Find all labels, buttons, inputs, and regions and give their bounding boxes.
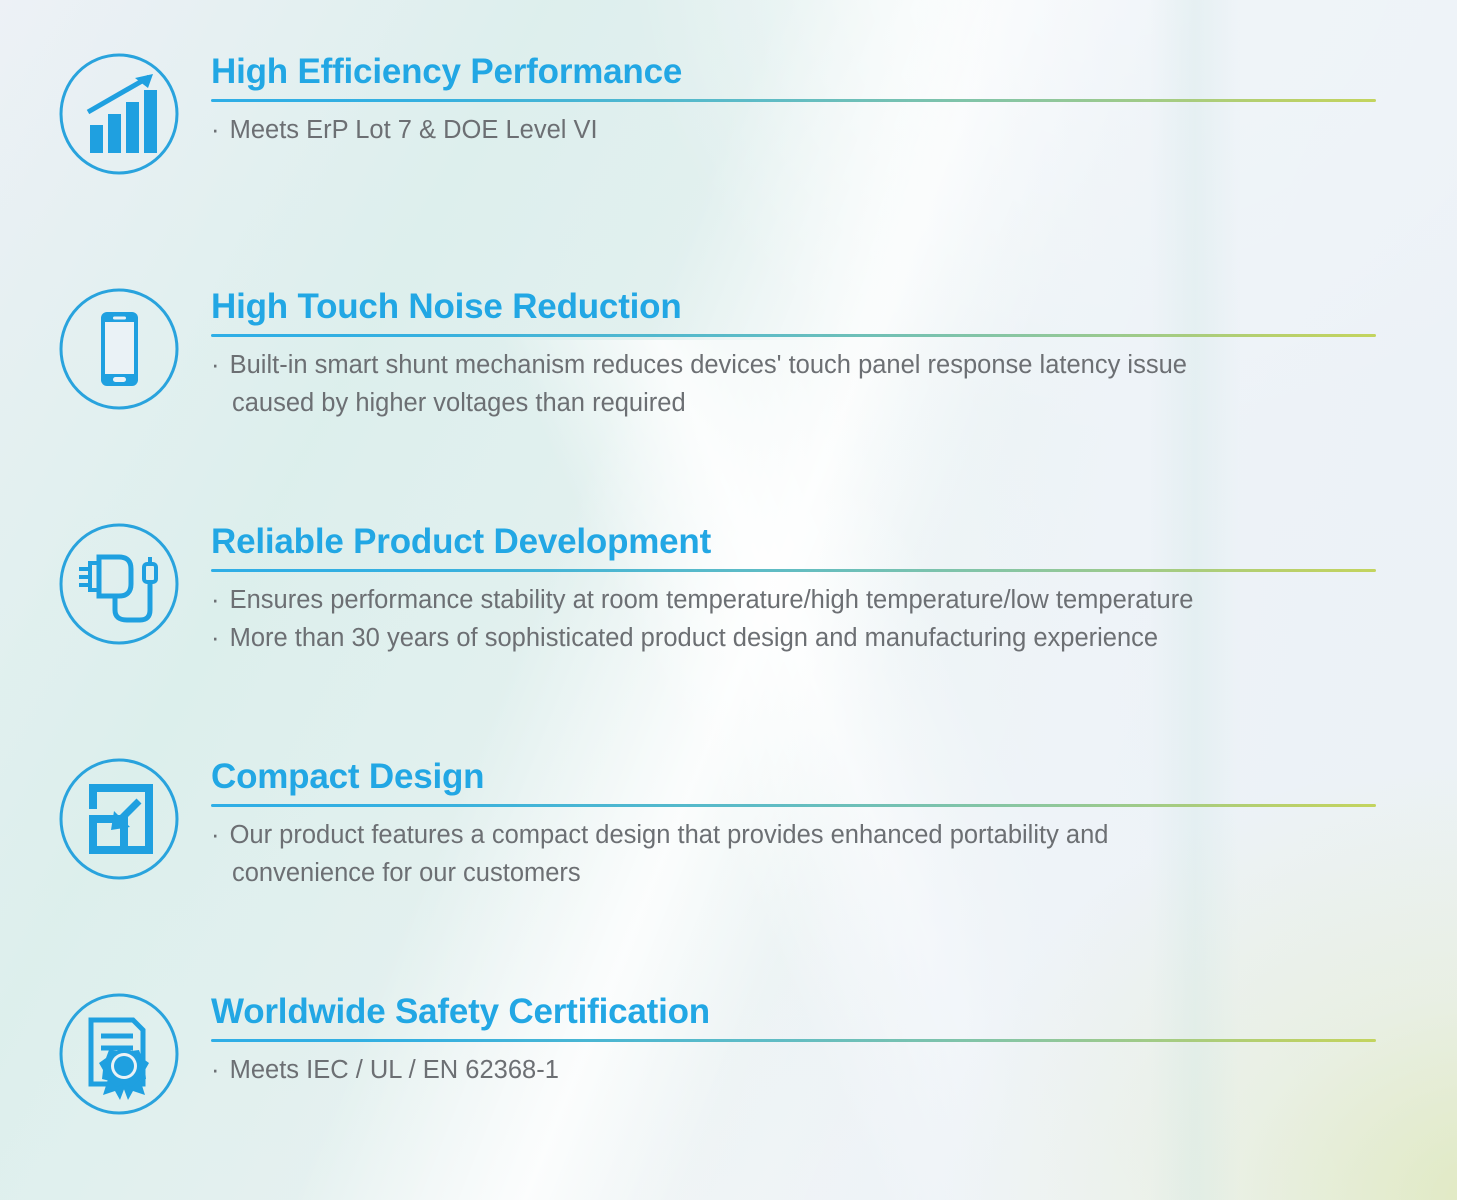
description-line: · Meets ErP Lot 7 & DOE Level VI [211,111,1376,149]
feature-body: Reliable Product Development · Ensures p… [211,522,1376,657]
description-line: caused by higher voltages than required [211,384,1376,422]
shrink-square-icon [57,757,181,881]
description-text: Ensures performance stability at room te… [230,586,1194,614]
feature-description: · Our product features a compact design … [211,807,1376,892]
bullet: · [211,624,223,652]
feature-title: Reliable Product Development [211,522,1376,562]
description-text: convenience for our customers [232,859,581,887]
feature-body: Worldwide Safety Certification · Meets I… [211,992,1376,1089]
description-text: Our product features a compact design th… [230,821,1109,849]
bullet: · [211,821,223,849]
description-text: More than 30 years of sophisticated prod… [230,624,1158,652]
description-line: · Our product features a compact design … [211,816,1376,854]
feature-title: High Touch Noise Reduction [211,287,1376,327]
feature-title: Compact Design [211,757,1376,797]
bullet: · [211,351,223,379]
feature-description: · Built-in smart shunt mechanism reduces… [211,337,1376,422]
feature-body: Compact Design · Our product features a … [211,757,1376,892]
description-line: · Built-in smart shunt mechanism reduces… [211,346,1376,384]
certificate-seal-icon [57,992,181,1116]
bullet: · [211,1056,223,1084]
description-text: caused by higher voltages than required [232,389,686,417]
smartphone-icon [57,287,181,411]
description-text: Built-in smart shunt mechanism reduces d… [230,351,1187,379]
description-line: · Ensures performance stability at room … [211,581,1376,619]
feature-body: High Touch Noise Reduction · Built-in sm… [211,287,1376,422]
description-text: Meets ErP Lot 7 & DOE Level VI [230,116,598,144]
description-line: convenience for our customers [211,854,1376,892]
power-adapter-icon [57,522,181,646]
description-text: Meets IEC / UL / EN 62368-1 [230,1056,559,1084]
feature-body: High Efficiency Performance · Meets ErP … [211,52,1376,149]
feature-description: · Ensures performance stability at room … [211,572,1376,657]
feature-title: High Efficiency Performance [211,52,1376,92]
bullet: · [211,586,223,614]
feature-highlights-page: High Efficiency Performance · Meets ErP … [0,0,1457,1200]
description-line: · More than 30 years of sophisticated pr… [211,619,1376,657]
feature-description: · Meets IEC / UL / EN 62368-1 [211,1042,1376,1089]
bullet: · [211,116,223,144]
description-line: · Meets IEC / UL / EN 62368-1 [211,1051,1376,1089]
feature-description: · Meets ErP Lot 7 & DOE Level VI [211,102,1376,149]
feature-title: Worldwide Safety Certification [211,992,1376,1032]
bar-chart-growth-icon [57,52,181,176]
